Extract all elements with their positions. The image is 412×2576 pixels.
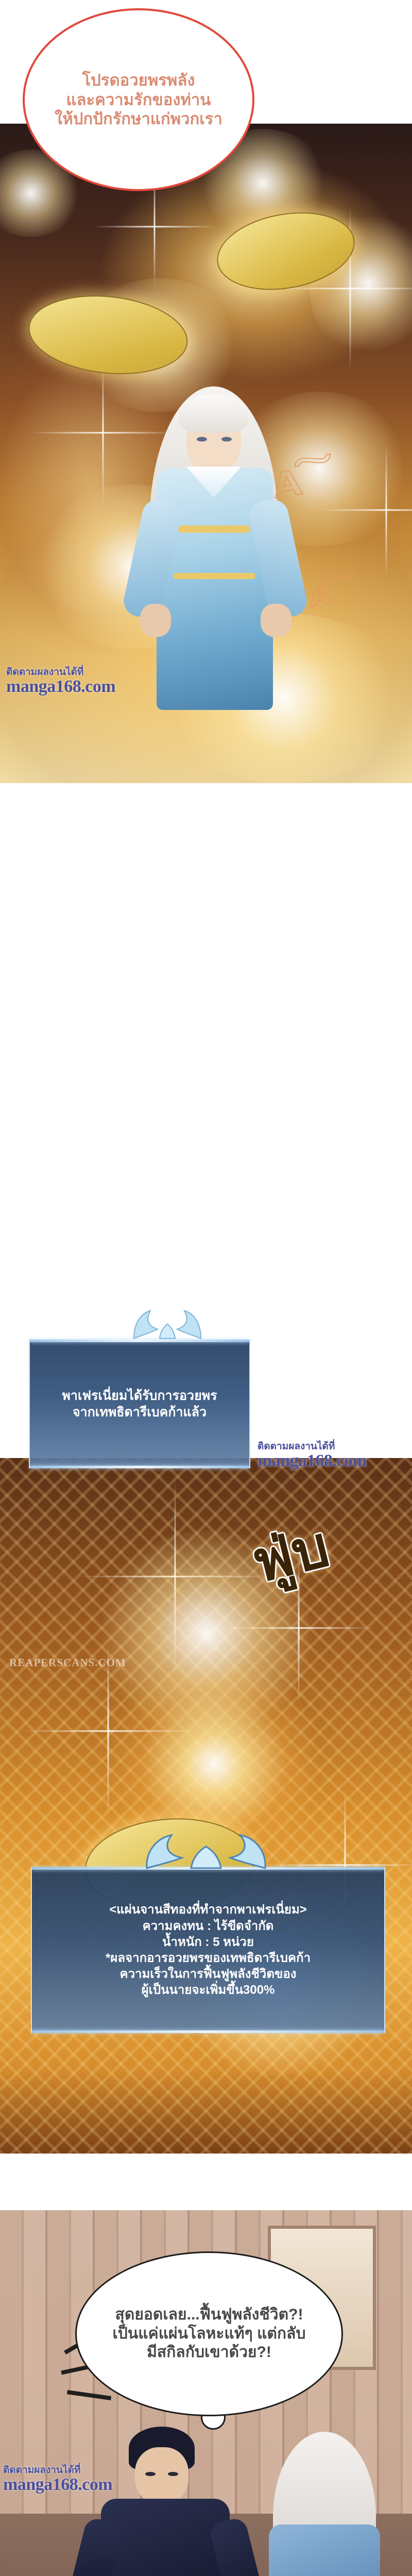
- eye-left: [145, 2472, 156, 2476]
- bubble-reaction: สุดยอดเลย...ฟื้นฟูพลังชีวิต?! เป็นแค่แผ่…: [75, 2251, 343, 2416]
- status-line-6: ผู้เป็นนายจะเพิ่มขึ้น300%: [142, 1982, 275, 1998]
- character-dark-haired-man: [51, 2427, 257, 2576]
- system-notice-line-2: จากเทพธิดารีเบคก้าแล้ว: [73, 1404, 207, 1421]
- hand-left: [140, 604, 171, 637]
- gutter-2: [0, 2154, 412, 2210]
- bubble-reaction-line-1: สุดยอดเลย...ฟื้นฟูพลังชีวิต?!: [115, 2306, 303, 2325]
- watermark-follow-text: ติดตามผลงานได้ที่: [257, 1442, 367, 1452]
- site-watermark: ติดตามผลงานได้ที่ manga168.com: [6, 667, 115, 696]
- bubble-prayer-line-3: ให้ปกปักรักษาแก่พวกเรา: [55, 109, 222, 129]
- character-white-haired-companion: [242, 2432, 407, 2576]
- eye-right: [168, 2472, 178, 2476]
- sfx-sparkle-2: ᴀ͠: [306, 571, 333, 615]
- site-watermark: ติดตามผลงานได้ที่ manga168.com: [257, 1442, 367, 1470]
- bubble-reaction-line-3: มีสกิลกับเขาด้วย?!: [147, 2343, 271, 2362]
- watermark-url: manga168.com: [257, 1452, 367, 1470]
- watermark-follow-text: ติดตามผลงานได้ที่: [3, 2465, 112, 2476]
- robe-trim: [173, 573, 255, 579]
- bubble-prayer-line-1: โปรดอวยพรพลัง: [82, 71, 195, 90]
- face: [135, 2447, 188, 2504]
- eye-right: [221, 437, 232, 442]
- watermark-url: manga168.com: [6, 677, 115, 696]
- status-line-5: ความเร็วในการฟื้นฟูพลังชีวิตของ: [120, 1966, 297, 1982]
- robe-trim: [178, 526, 250, 533]
- gold-disc: [211, 202, 360, 300]
- gold-disc: [25, 288, 192, 382]
- eye-left: [197, 437, 207, 442]
- site-watermark: ติดตามผลงานได้ที่ manga168.com: [3, 2465, 112, 2494]
- bubble-reaction-line-2: เป็นแค่แผ่นโลหะแท้ๆ แต่กลับ: [113, 2325, 306, 2344]
- bubble-prayer-line-2: และความรักของท่าน: [66, 90, 211, 110]
- webtoon-page: โปรดอวยพรพลัง และความรักของท่าน ให้ปกปัก…: [0, 0, 412, 2576]
- starburst-icon: [319, 443, 412, 577]
- watermark-follow-text: ติดตามผลงานได้ที่: [6, 667, 115, 677]
- item-status-window: <แผ่นจานสีทองที่ทำจากพาเฟรเนี่ยม> ความคง…: [31, 1867, 385, 2033]
- watermark-url: manga168.com: [3, 2476, 112, 2494]
- robe: [269, 2524, 380, 2576]
- status-line-2: ความคงทน : ไร้ขีดจำกัด: [143, 1918, 274, 1934]
- system-notice-line-1: พาเฟรเนี่ยมได้รับการอวยพร: [62, 1387, 217, 1404]
- scan-watermark: REAPERSCANS.COM: [9, 1656, 126, 1669]
- character-white-haired-priestess: [129, 371, 299, 783]
- starburst-icon: [77, 1479, 273, 1674]
- status-line-3: น้ำหนัก : 5 หน่วย: [162, 1934, 254, 1950]
- sfx-burst: ฟู่บ: [243, 1502, 338, 1607]
- panel-golden-burst: REAPERSCANS.COM ฟู่บ: [0, 1458, 412, 2154]
- status-line-4: *ผลจากอารอวยพรของเทพธิดารีเบคก้า: [106, 1950, 311, 1966]
- hand-right: [261, 604, 291, 637]
- bubble-prayer: โปรดอวยพรพลัง และความรักของท่าน ให้ปกปัก…: [23, 8, 254, 191]
- status-line-1: <แผ่นจานสีทองที่ทำจากพาเฟรเนี่ยม>: [109, 1902, 307, 1918]
- system-notice-window: พาเฟรเนี่ยมได้รับการอวยพร จากเทพธิดารีเบ…: [29, 1340, 250, 1468]
- panel-golden-temple: ᴀ͠ ᴀ͠ ติดตามผลงานได้ที่ manga168.com: [0, 124, 412, 783]
- hair-fringe: [179, 395, 248, 433]
- starburst-icon: [21, 1643, 196, 1819]
